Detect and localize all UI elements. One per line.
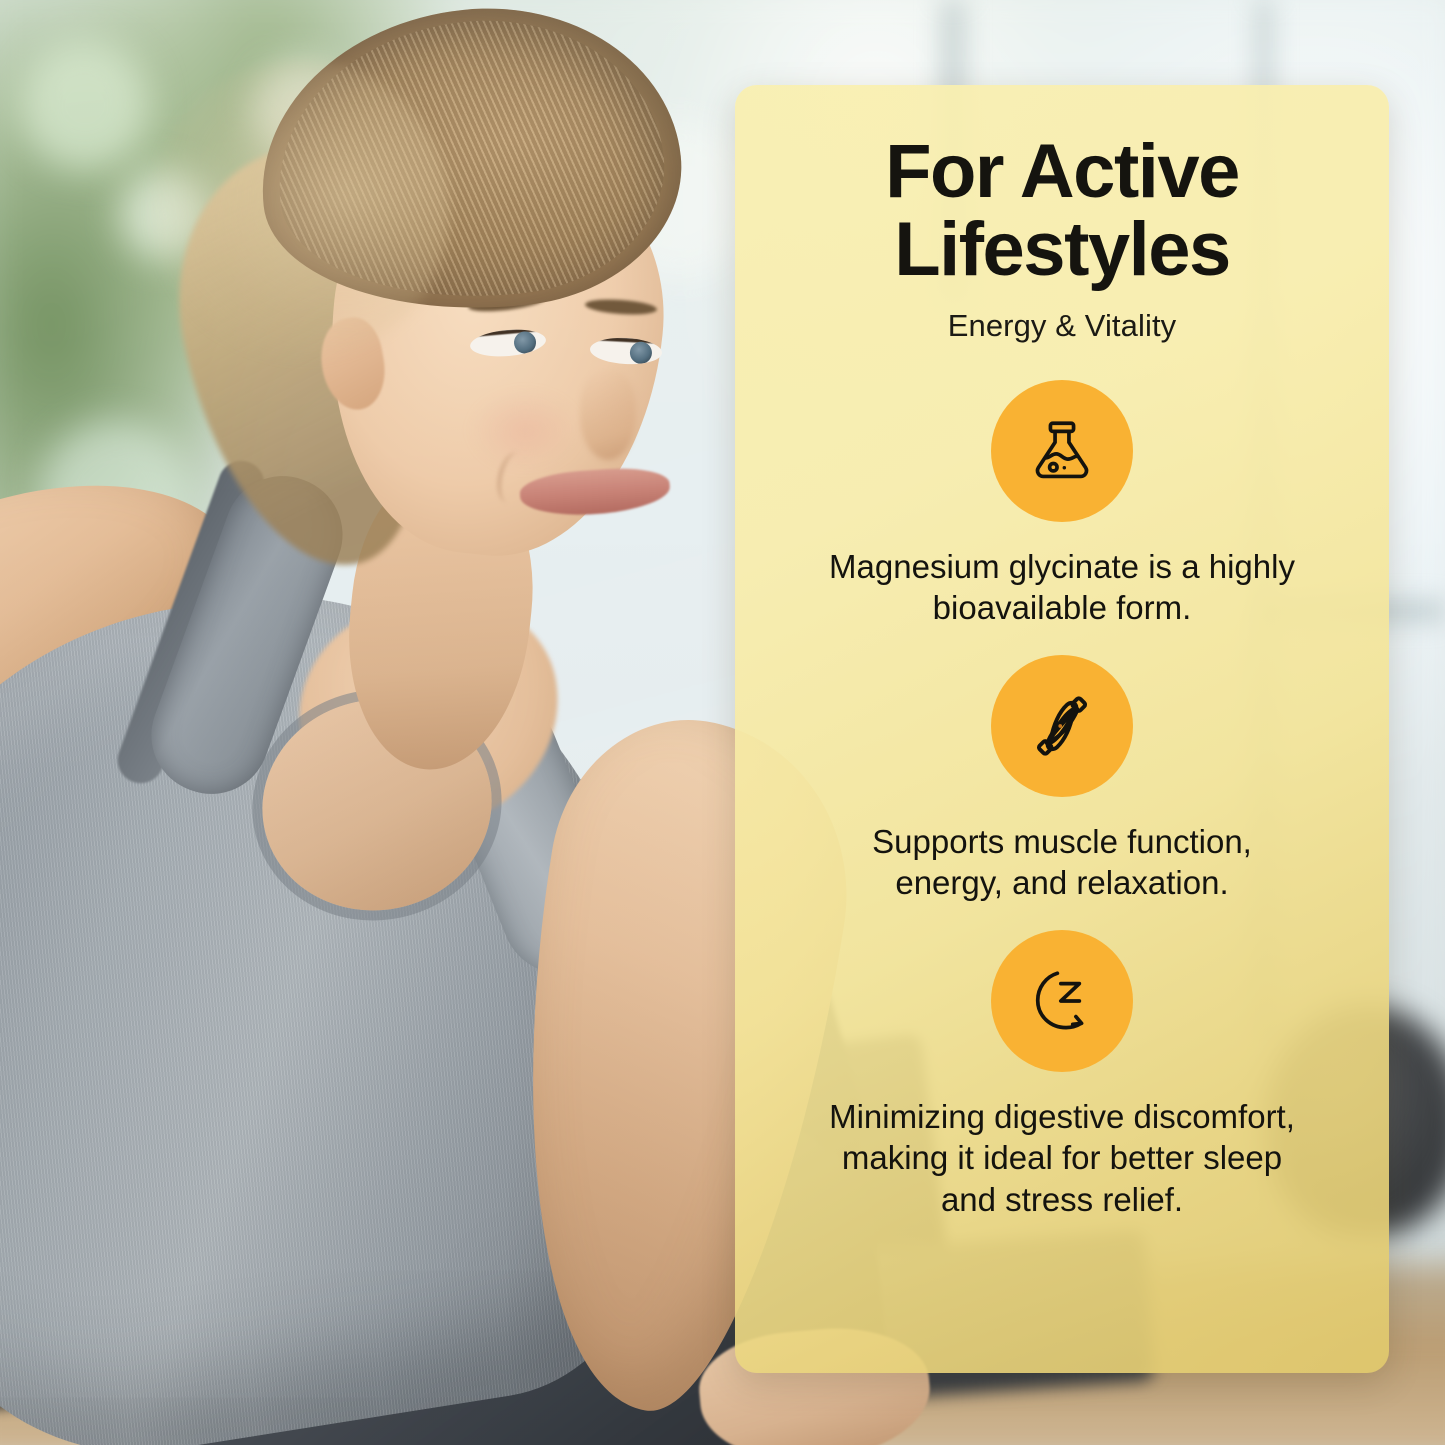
- feature-text: Magnesium glycinate is a highly bioavail…: [829, 546, 1295, 629]
- card-subtitle: Energy & Vitality: [775, 308, 1349, 344]
- benefits-card: For Active Lifestyles Energy & Vitality: [735, 85, 1389, 1373]
- icon-badge: [991, 930, 1133, 1072]
- feature-list: Magnesium glycinate is a highly bioavail…: [735, 380, 1389, 1221]
- card-header: For Active Lifestyles Energy & Vitality: [735, 85, 1389, 344]
- icon-badge: [991, 655, 1133, 797]
- feature-item: Magnesium glycinate is a highly bioavail…: [735, 380, 1389, 629]
- feature-text: Minimizing digestive discomfort, making …: [829, 1096, 1295, 1221]
- icon-badge: [991, 380, 1133, 522]
- iris: [629, 341, 652, 364]
- crescent-moon-sleep-icon: [1025, 964, 1099, 1038]
- feature-item: Minimizing digestive discomfort, making …: [735, 930, 1389, 1221]
- feature-item: Supports muscle function, energy, and re…: [735, 655, 1389, 904]
- feature-text: Supports muscle function, energy, and re…: [872, 821, 1252, 904]
- page-title: For Active Lifestyles: [775, 133, 1349, 290]
- nose: [580, 370, 636, 460]
- infographic-canvas: For Active Lifestyles Energy & Vitality: [0, 0, 1445, 1445]
- hair-wisps: [150, 60, 450, 360]
- muscle-fiber-icon: [1025, 689, 1099, 763]
- lab-flask-icon: [1025, 414, 1099, 488]
